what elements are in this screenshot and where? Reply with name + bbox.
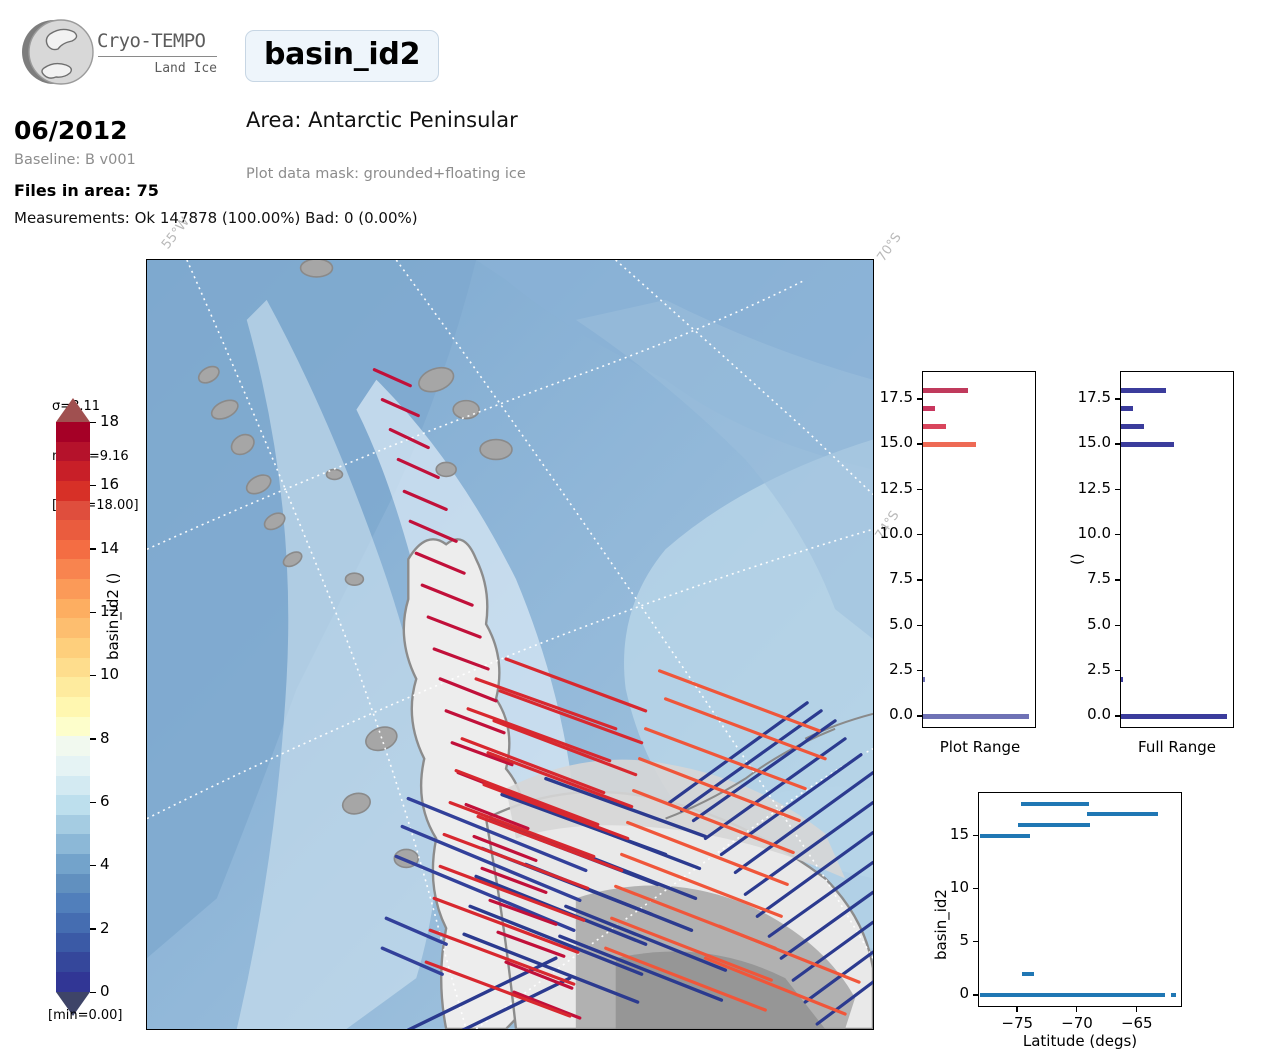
full-range-histogram-yticks: 0.02.55.07.510.012.515.017.5 [1078, 371, 1120, 728]
full-range-histogram-ylabel: () [1068, 553, 1086, 565]
latitude-scatter-xlabel: Latitude (degs) [978, 1032, 1182, 1050]
date-label: 06/2012 [14, 116, 128, 145]
colorbar-segment [56, 579, 90, 599]
histogram-ytick-label: 15.0 [1078, 433, 1111, 451]
colorbar-segment [56, 913, 90, 933]
latitude-scatter-panel[interactable]: 051015−75−70−65 basin_id2 Latitude (degs… [910, 780, 1210, 1060]
histogram-ytick-label: 10.0 [880, 524, 913, 542]
histogram-ytick-mark [1115, 715, 1120, 716]
histogram-ytick-mark [917, 579, 922, 580]
measurements-label: Measurements: Ok 147878 (100.00%) Bad: 0… [14, 209, 418, 227]
histogram-ytick-label: 2.5 [889, 660, 913, 678]
histogram-bar [1121, 442, 1174, 447]
histogram-ytick-label: 5.0 [889, 615, 913, 633]
colorbar-segment [56, 461, 90, 481]
scatter-ytick-mark [973, 835, 978, 836]
histogram-ytick-label: 12.5 [880, 479, 913, 497]
scatter-ytick-label: 5 [959, 931, 969, 949]
colorbar-tick-label: 10 [100, 665, 119, 683]
colorbar-segment [56, 658, 90, 678]
colorbar-segment [56, 599, 90, 619]
colorbar-min-label: [min=0.00] [48, 1008, 123, 1023]
dashboard-root: Cryo-TEMPO Land Ice basin_id2 06/2012 Ba… [0, 0, 1272, 1060]
histogram-ytick-label: 10.0 [1078, 524, 1111, 542]
colorbar-segment [56, 874, 90, 894]
colorbar-tick-mark [90, 928, 96, 929]
colorbar-tick-mark [90, 738, 96, 739]
globe-icon [20, 14, 96, 90]
histogram-bar [1121, 424, 1144, 429]
plot-range-histogram-panel[interactable]: 0.02.55.07.510.012.515.017.5 Plot Range [880, 360, 1050, 770]
histogram-bar [1121, 714, 1227, 719]
latitude-scatter-ylabel: basin_id2 [932, 889, 950, 960]
full-range-histogram-xlabel: Full Range [1097, 738, 1257, 756]
histogram-ytick-label: 0.0 [1087, 705, 1111, 723]
histogram-ytick-label: 5.0 [1087, 615, 1111, 633]
colorbar-tick-mark [90, 992, 96, 993]
scatter-xtick-label: −65 [1118, 1014, 1156, 1032]
colorbar-gradient [56, 422, 90, 992]
colorbar-segment [56, 540, 90, 560]
histogram-ytick-label: 2.5 [1087, 660, 1111, 678]
colorbar-tick-label: 6 [100, 792, 110, 810]
histogram-bar [923, 406, 935, 411]
colorbar-over-arrow [56, 398, 90, 422]
colorbar-segment [56, 736, 90, 756]
colorbar-segment [56, 815, 90, 835]
colorbar-tick-label: 2 [100, 919, 110, 937]
scatter-ytick-label: 15 [950, 825, 969, 843]
histogram-ytick-label: 7.5 [1087, 569, 1111, 587]
full-range-histogram-panel[interactable]: 0.02.55.07.510.012.515.017.5 () Full Ran… [1060, 360, 1250, 770]
scatter-ytick-label: 0 [959, 984, 969, 1002]
scatter-ytick-label: 10 [950, 878, 969, 896]
area-label: Area: Antarctic Peninsular [246, 108, 518, 132]
colorbar-segment [56, 638, 90, 658]
colorbar-segment [56, 520, 90, 540]
colorbar-segments [56, 422, 90, 992]
colorbar-tick-mark [90, 422, 96, 423]
histogram-bar [1121, 677, 1123, 682]
colorbar: σ=8.11 mean=9.16 [max=18.00] 02468101214… [0, 360, 146, 1030]
colorbar-segment [56, 677, 90, 697]
histogram-ytick-label: 15.0 [880, 433, 913, 451]
baseline-label: Baseline: B v001 [14, 152, 136, 168]
colorbar-segment [56, 756, 90, 776]
histogram-ytick-label: 0.0 [889, 705, 913, 723]
histogram-ytick-label: 17.5 [1078, 388, 1111, 406]
page-title-badge: basin_id2 [245, 30, 439, 82]
histogram-bar [1121, 406, 1133, 411]
colorbar-tick-label: 14 [100, 539, 119, 557]
scatter-xtick-label: −75 [998, 1014, 1036, 1032]
histogram-ytick-mark [1115, 579, 1120, 580]
colorbar-tick-mark [90, 865, 96, 866]
full-range-histogram-axes [1120, 371, 1234, 728]
map-canvas [147, 260, 873, 1029]
histogram-ytick-label: 12.5 [1078, 479, 1111, 497]
histogram-ytick-mark [1115, 625, 1120, 626]
scatter-segment [1018, 823, 1090, 827]
histogram-ytick-mark [1115, 398, 1120, 399]
histogram-bar [923, 424, 946, 429]
histogram-ytick-mark [917, 670, 922, 671]
histogram-ytick-mark [917, 534, 922, 535]
colorbar-tick-mark [90, 675, 96, 676]
scatter-xtick-mark [1076, 1007, 1077, 1012]
colorbar-tick-label: 0 [100, 982, 110, 1000]
logo-wordmark: Cryo-TEMPO [97, 30, 205, 52]
histogram-ytick-mark [917, 443, 922, 444]
histogram-ytick-mark [1115, 443, 1120, 444]
colorbar-segment [56, 952, 90, 972]
colorbar-tick-mark [90, 612, 96, 613]
scatter-segment [1087, 812, 1159, 816]
colorbar-tick-label: 18 [100, 412, 119, 430]
scatter-ytick-mark [973, 941, 978, 942]
histogram-ytick-mark [1115, 534, 1120, 535]
plot-range-histogram-xlabel: Plot Range [900, 738, 1060, 756]
colorbar-segment [56, 795, 90, 815]
histogram-bar [923, 388, 968, 393]
scatter-xtick-label: −70 [1058, 1014, 1096, 1032]
latitude-scatter-axes [978, 792, 1182, 1007]
histogram-ytick-mark [917, 398, 922, 399]
scatter-segment [980, 834, 1030, 838]
map-panel[interactable]: km 300 [146, 259, 874, 1030]
histogram-ytick-label: 7.5 [889, 569, 913, 587]
scatter-ytick-mark [973, 888, 978, 889]
files-in-area-label: Files in area: 75 [14, 181, 159, 200]
colorbar-segment [56, 893, 90, 913]
colorbar-segment [56, 834, 90, 854]
colorbar-segment [56, 442, 90, 462]
colorbar-tick-label: 16 [100, 475, 119, 493]
histogram-bar [923, 677, 925, 682]
colorbar-axis-label: basin_id2 () [104, 573, 122, 660]
colorbar-segment [56, 481, 90, 501]
histogram-bar [923, 714, 1029, 719]
colorbar-ticks: 024681012141618 [90, 422, 146, 992]
colorbar-tick-mark [90, 802, 96, 803]
logo-subtitle: Land Ice [97, 61, 217, 76]
histogram-ytick-label: 17.5 [880, 388, 913, 406]
cryo-tempo-logo: Cryo-TEMPO Land Ice [14, 8, 229, 96]
colorbar-tick-label: 8 [100, 729, 110, 747]
histogram-bar [1121, 388, 1166, 393]
colorbar-segment [56, 717, 90, 737]
histogram-ytick-mark [917, 489, 922, 490]
scatter-segment [1021, 802, 1089, 806]
histogram-ytick-mark [917, 715, 922, 716]
colorbar-tick-mark [90, 485, 96, 486]
colorbar-segment [56, 933, 90, 953]
histogram-ytick-mark [1115, 489, 1120, 490]
colorbar-tick-mark [90, 548, 96, 549]
plot-data-mask-label: Plot data mask: grounded+floating ice [246, 166, 526, 182]
graticule-label-70s: 70°S [875, 230, 905, 264]
histogram-bar [923, 442, 976, 447]
scatter-segment [1022, 972, 1034, 976]
colorbar-segment [56, 501, 90, 521]
plot-range-histogram-axes [922, 371, 1036, 728]
colorbar-segment [56, 972, 90, 992]
histogram-ytick-mark [1115, 670, 1120, 671]
histogram-ytick-mark [917, 625, 922, 626]
plot-range-histogram-yticks: 0.02.55.07.510.012.515.017.5 [880, 371, 922, 728]
scatter-segment [1171, 993, 1176, 997]
scatter-ytick-mark [973, 994, 978, 995]
scatter-xtick-mark [1136, 1007, 1137, 1012]
colorbar-segment [56, 422, 90, 442]
scatter-segment [980, 993, 1165, 997]
colorbar-segment [56, 559, 90, 579]
logo-divider [98, 56, 217, 57]
colorbar-tick-label: 4 [100, 855, 110, 873]
scatter-xtick-mark [1016, 1007, 1017, 1012]
colorbar-segment [56, 854, 90, 874]
colorbar-segment [56, 697, 90, 717]
colorbar-segment [56, 776, 90, 796]
colorbar-segment [56, 618, 90, 638]
